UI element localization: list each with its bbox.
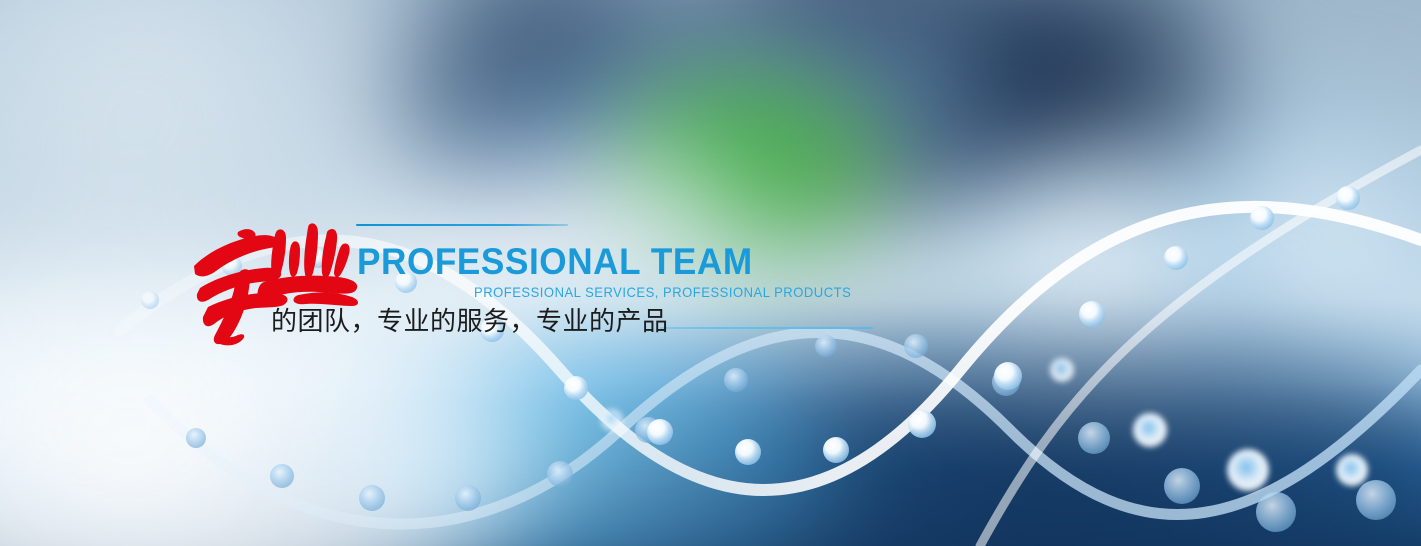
headline-block: PROFESSIONAL TEAM PROFESSIONAL SERVICES,… xyxy=(0,0,1421,546)
headline-title-english: PROFESSIONAL TEAM xyxy=(357,243,753,280)
bottom-divider-rule xyxy=(660,327,873,329)
headline-tagline-chinese: 的团队，专业的服务，专业的产品 xyxy=(271,306,669,339)
professional-team-banner: PROFESSIONAL TEAM PROFESSIONAL SERVICES,… xyxy=(0,0,1421,546)
top-divider-rule xyxy=(356,224,568,226)
headline-subtitle-english: PROFESSIONAL SERVICES, PROFESSIONAL PROD… xyxy=(474,285,851,299)
